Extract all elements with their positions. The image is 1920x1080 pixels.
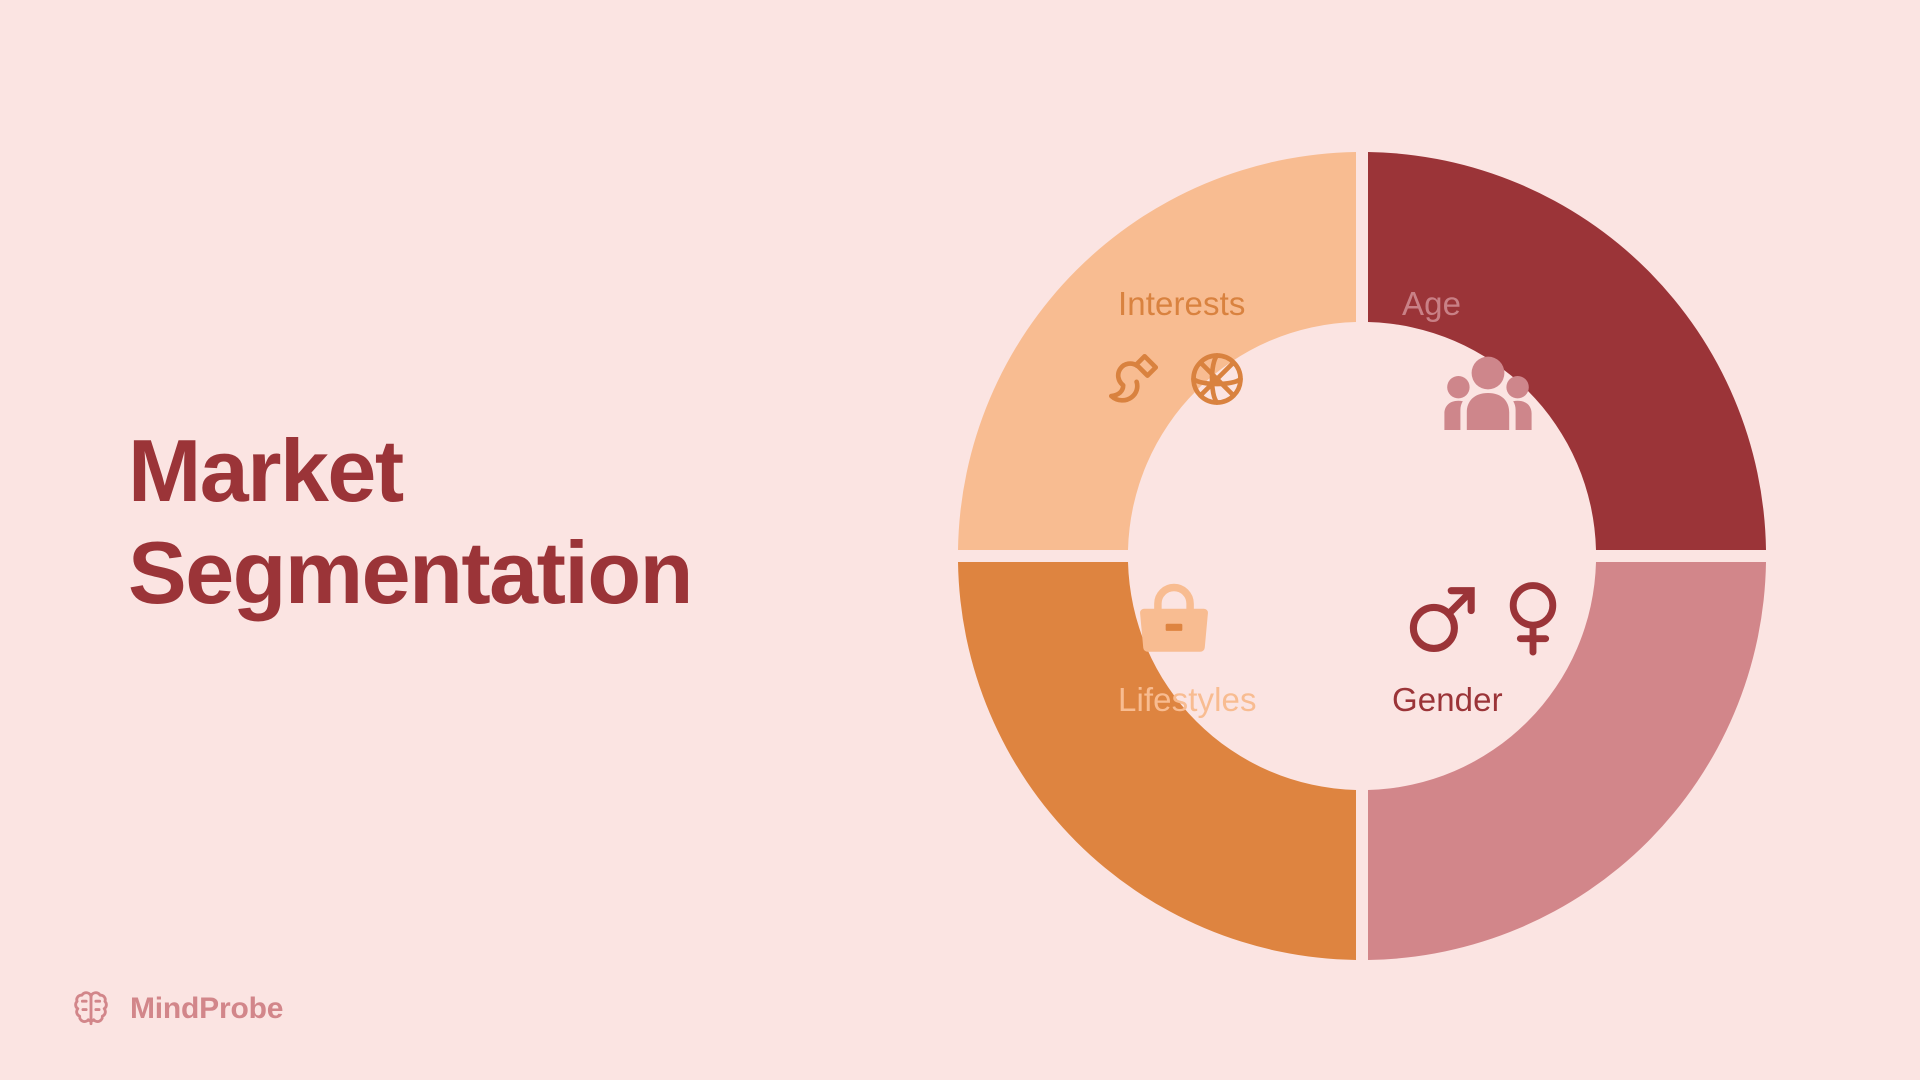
page-title: Market Segmentation (128, 420, 828, 624)
page-title-line-1: Market (128, 420, 828, 522)
brain-icon (68, 986, 114, 1032)
donut-segment-gender[interactable] (1368, 562, 1766, 960)
market-segmentation-donut-chart: Interests Age Lifestyles (952, 146, 1772, 966)
donut-segment-age[interactable] (1368, 152, 1766, 550)
brand-logo[interactable]: MindProbe (68, 986, 283, 1032)
donut-segment-lifestyles[interactable] (958, 562, 1356, 960)
donut-svg (952, 146, 1772, 966)
donut-segment-interests[interactable] (958, 152, 1356, 550)
brand-name: MindProbe (130, 992, 283, 1026)
page-title-line-2: Segmentation (128, 522, 828, 624)
